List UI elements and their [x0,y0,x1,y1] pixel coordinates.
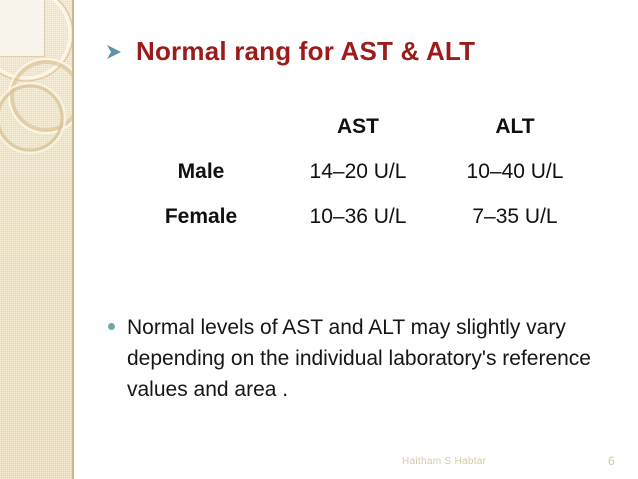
table-header-alt: ALT [442,104,588,149]
cell-male-ast: 14–20 U/L [274,149,442,194]
table-row: Male 14–20 U/L 10–40 U/L [128,149,588,194]
table-header-row: AST ALT [128,104,588,149]
page-title: Normal rang for AST & ALT [104,36,475,67]
slide: Normal rang for AST & ALT AST ALT Male 1… [0,0,638,479]
table-header: AST ALT [128,104,588,149]
table-header-blank [128,104,274,149]
cell-male-alt: 10–40 U/L [442,149,588,194]
normal-range-table: AST ALT Male 14–20 U/L 10–40 U/L Female … [128,104,588,239]
body-bullet-item: Normal levels of AST and ALT may slightl… [108,312,620,405]
footer-author: Haitham S Habtar [402,456,486,467]
table-body: Male 14–20 U/L 10–40 U/L Female 10–36 U/… [128,149,588,239]
band-circles-decoration [0,0,74,200]
decorative-side-band [0,0,74,479]
table-header-ast: AST [274,104,442,149]
cell-female-ast: 10–36 U/L [274,194,442,239]
dot-bullet-icon [108,323,115,330]
table-row: Female 10–36 U/L 7–35 U/L [128,194,588,239]
body-paragraph: Normal levels of AST and ALT may slightl… [127,312,620,405]
row-label-male: Male [128,149,274,194]
arrow-right-triangle-icon [104,42,124,62]
page-title-text: Normal rang for AST & ALT [136,36,475,67]
row-label-female: Female [128,194,274,239]
cell-female-alt: 7–35 U/L [442,194,588,239]
footer-page-number: 6 [608,454,615,468]
